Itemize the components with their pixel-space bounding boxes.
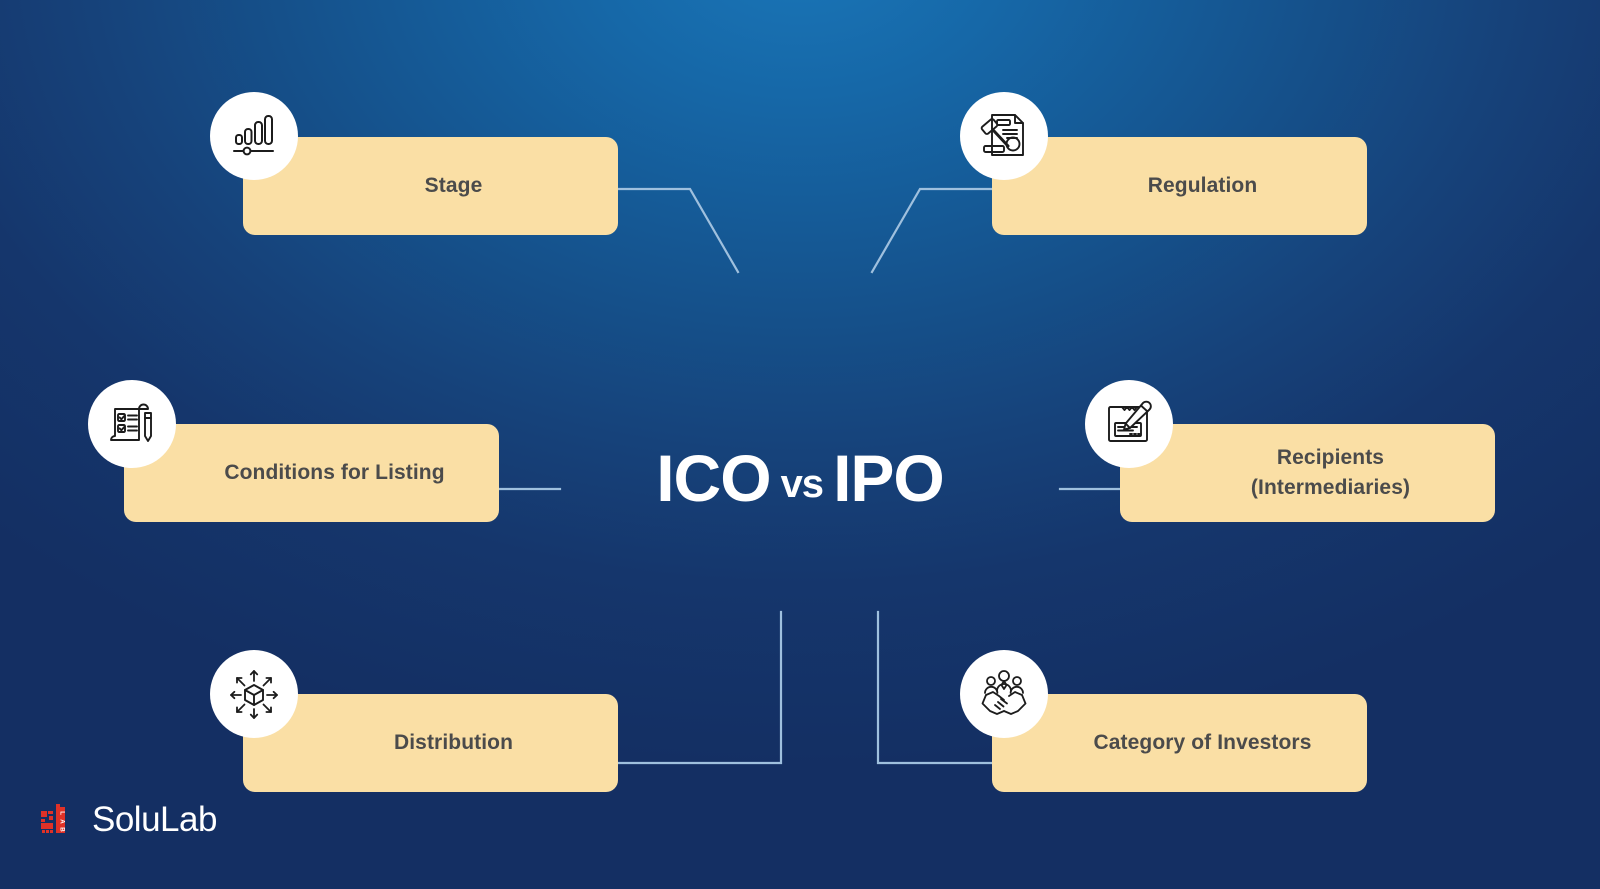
- connector-regulation: [872, 189, 992, 272]
- node-distribution-card[interactable]: Distribution: [243, 694, 618, 792]
- center-title: ICOvsIPO: [0, 440, 1600, 516]
- solulab-logo-text: SoluLab: [92, 800, 217, 840]
- checklist-pencil-icon: [88, 380, 176, 468]
- solulab-logo-mark: L A B: [40, 800, 80, 840]
- title-right: IPO: [833, 441, 944, 515]
- connector-stage: [618, 189, 738, 272]
- cheque-pen-icon: [1085, 380, 1173, 468]
- title-left: ICO: [656, 441, 770, 515]
- svg-text:A: A: [59, 819, 66, 824]
- node-distribution-label: Distribution: [394, 728, 513, 758]
- bar-chart-icon: [210, 92, 298, 180]
- cube-arrows-icon: [210, 650, 298, 738]
- node-stage-label: Stage: [425, 171, 483, 201]
- infographic-canvas: Stage Regulation: [0, 0, 1600, 889]
- node-regulation-label: Regulation: [1148, 171, 1258, 201]
- node-stage-card[interactable]: Stage: [243, 137, 618, 235]
- gavel-document-icon: [960, 92, 1048, 180]
- node-investors-label: Category of Investors: [1094, 728, 1312, 758]
- title-vs: vs: [771, 462, 834, 506]
- svg-text:B: B: [59, 827, 66, 832]
- connector-distribution: [618, 612, 781, 763]
- svg-text:L: L: [59, 811, 66, 815]
- solulab-logo[interactable]: L A B SoluLab: [40, 800, 217, 840]
- node-regulation-card[interactable]: Regulation: [992, 137, 1367, 235]
- handshake-people-icon: [960, 650, 1048, 738]
- node-investors-card[interactable]: Category of Investors: [992, 694, 1367, 792]
